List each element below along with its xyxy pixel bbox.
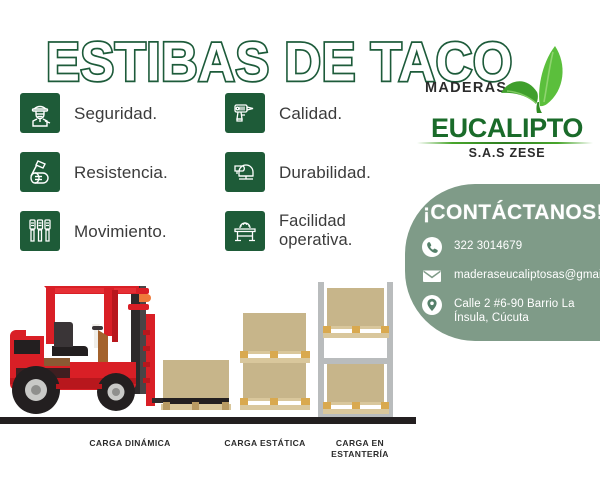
contact-row-email[interactable]: maderaseucaliptosas@gmail.com — [421, 265, 600, 287]
contact-heading: ¡CONTÁCTANOS! — [423, 201, 600, 225]
feature-label: Movimiento. — [74, 222, 167, 241]
feature-label: Calidad. — [279, 104, 342, 123]
map-pin-icon — [421, 294, 443, 316]
forklift-illustration — [0, 272, 420, 427]
contact-row-address[interactable]: Calle 2 #6-90 Barrio La Ínsula, Cúcuta — [421, 294, 600, 325]
logo-name: EUCALIPTO — [421, 113, 593, 144]
axe-log-icon — [20, 152, 60, 192]
phone-icon — [421, 236, 443, 258]
chisels-icon — [20, 211, 60, 251]
sander-icon — [225, 152, 265, 192]
features-column-right: Calidad. Durabilidad. — [225, 93, 410, 270]
feature-label: Durabilidad. — [279, 163, 371, 182]
feature-item-movimiento: Movimiento. — [20, 211, 210, 251]
contact-row-phone[interactable]: 322 3014679 — [421, 236, 600, 258]
feature-item-resistencia: Resistencia. — [20, 152, 210, 192]
page-title: ESTIBAS DE TACO — [46, 32, 402, 92]
feature-label: Facilidad operativa. — [279, 212, 410, 250]
envelope-icon — [421, 265, 443, 287]
feature-label: Seguridad. — [74, 104, 157, 123]
logo-suffix: S.A.S ZESE — [421, 146, 593, 160]
ground-line — [0, 417, 416, 424]
feature-item-calidad: Calidad. — [225, 93, 410, 133]
contact-phone-value: 322 3014679 — [454, 236, 522, 253]
illustration-captions: CARGA DINÁMICA CARGA ESTÁTICA CARGA EN E… — [0, 432, 420, 472]
logo-underline — [417, 142, 593, 144]
contact-email-value: maderaseucaliptosas@gmail.com — [454, 265, 600, 282]
features-column-left: Seguridad. Resistencia. — [20, 93, 210, 270]
feature-item-seguridad: Seguridad. — [20, 93, 210, 133]
worker-helmet-icon — [20, 93, 60, 133]
eucalyptus-leaves-icon — [495, 34, 575, 114]
table-saw-icon — [225, 211, 265, 251]
contact-address-value: Calle 2 #6-90 Barrio La Ínsula, Cúcuta — [454, 294, 600, 325]
caption-carga-estatica: CARGA ESTÁTICA — [215, 438, 315, 449]
drill-icon — [225, 93, 265, 133]
feature-item-facilidad: Facilidad operativa. — [225, 211, 410, 251]
caption-carga-dinamica: CARGA DINÁMICA — [75, 438, 185, 449]
caption-carga-estanteria: CARGA EN ESTANTERÍA — [310, 438, 410, 460]
features-list: Seguridad. Resistencia. — [20, 93, 400, 263]
contact-panel: ¡CONTÁCTANOS! 322 3014679 maderaseucalip… — [405, 184, 600, 341]
poster-canvas: ESTIBAS DE TACO Seguridad. — [0, 0, 600, 503]
feature-item-durabilidad: Durabilidad. — [225, 152, 410, 192]
brand-logo: MADERAS EUCALIPTO S.A.S ZESE — [415, 28, 595, 158]
feature-label: Resistencia. — [74, 163, 168, 182]
